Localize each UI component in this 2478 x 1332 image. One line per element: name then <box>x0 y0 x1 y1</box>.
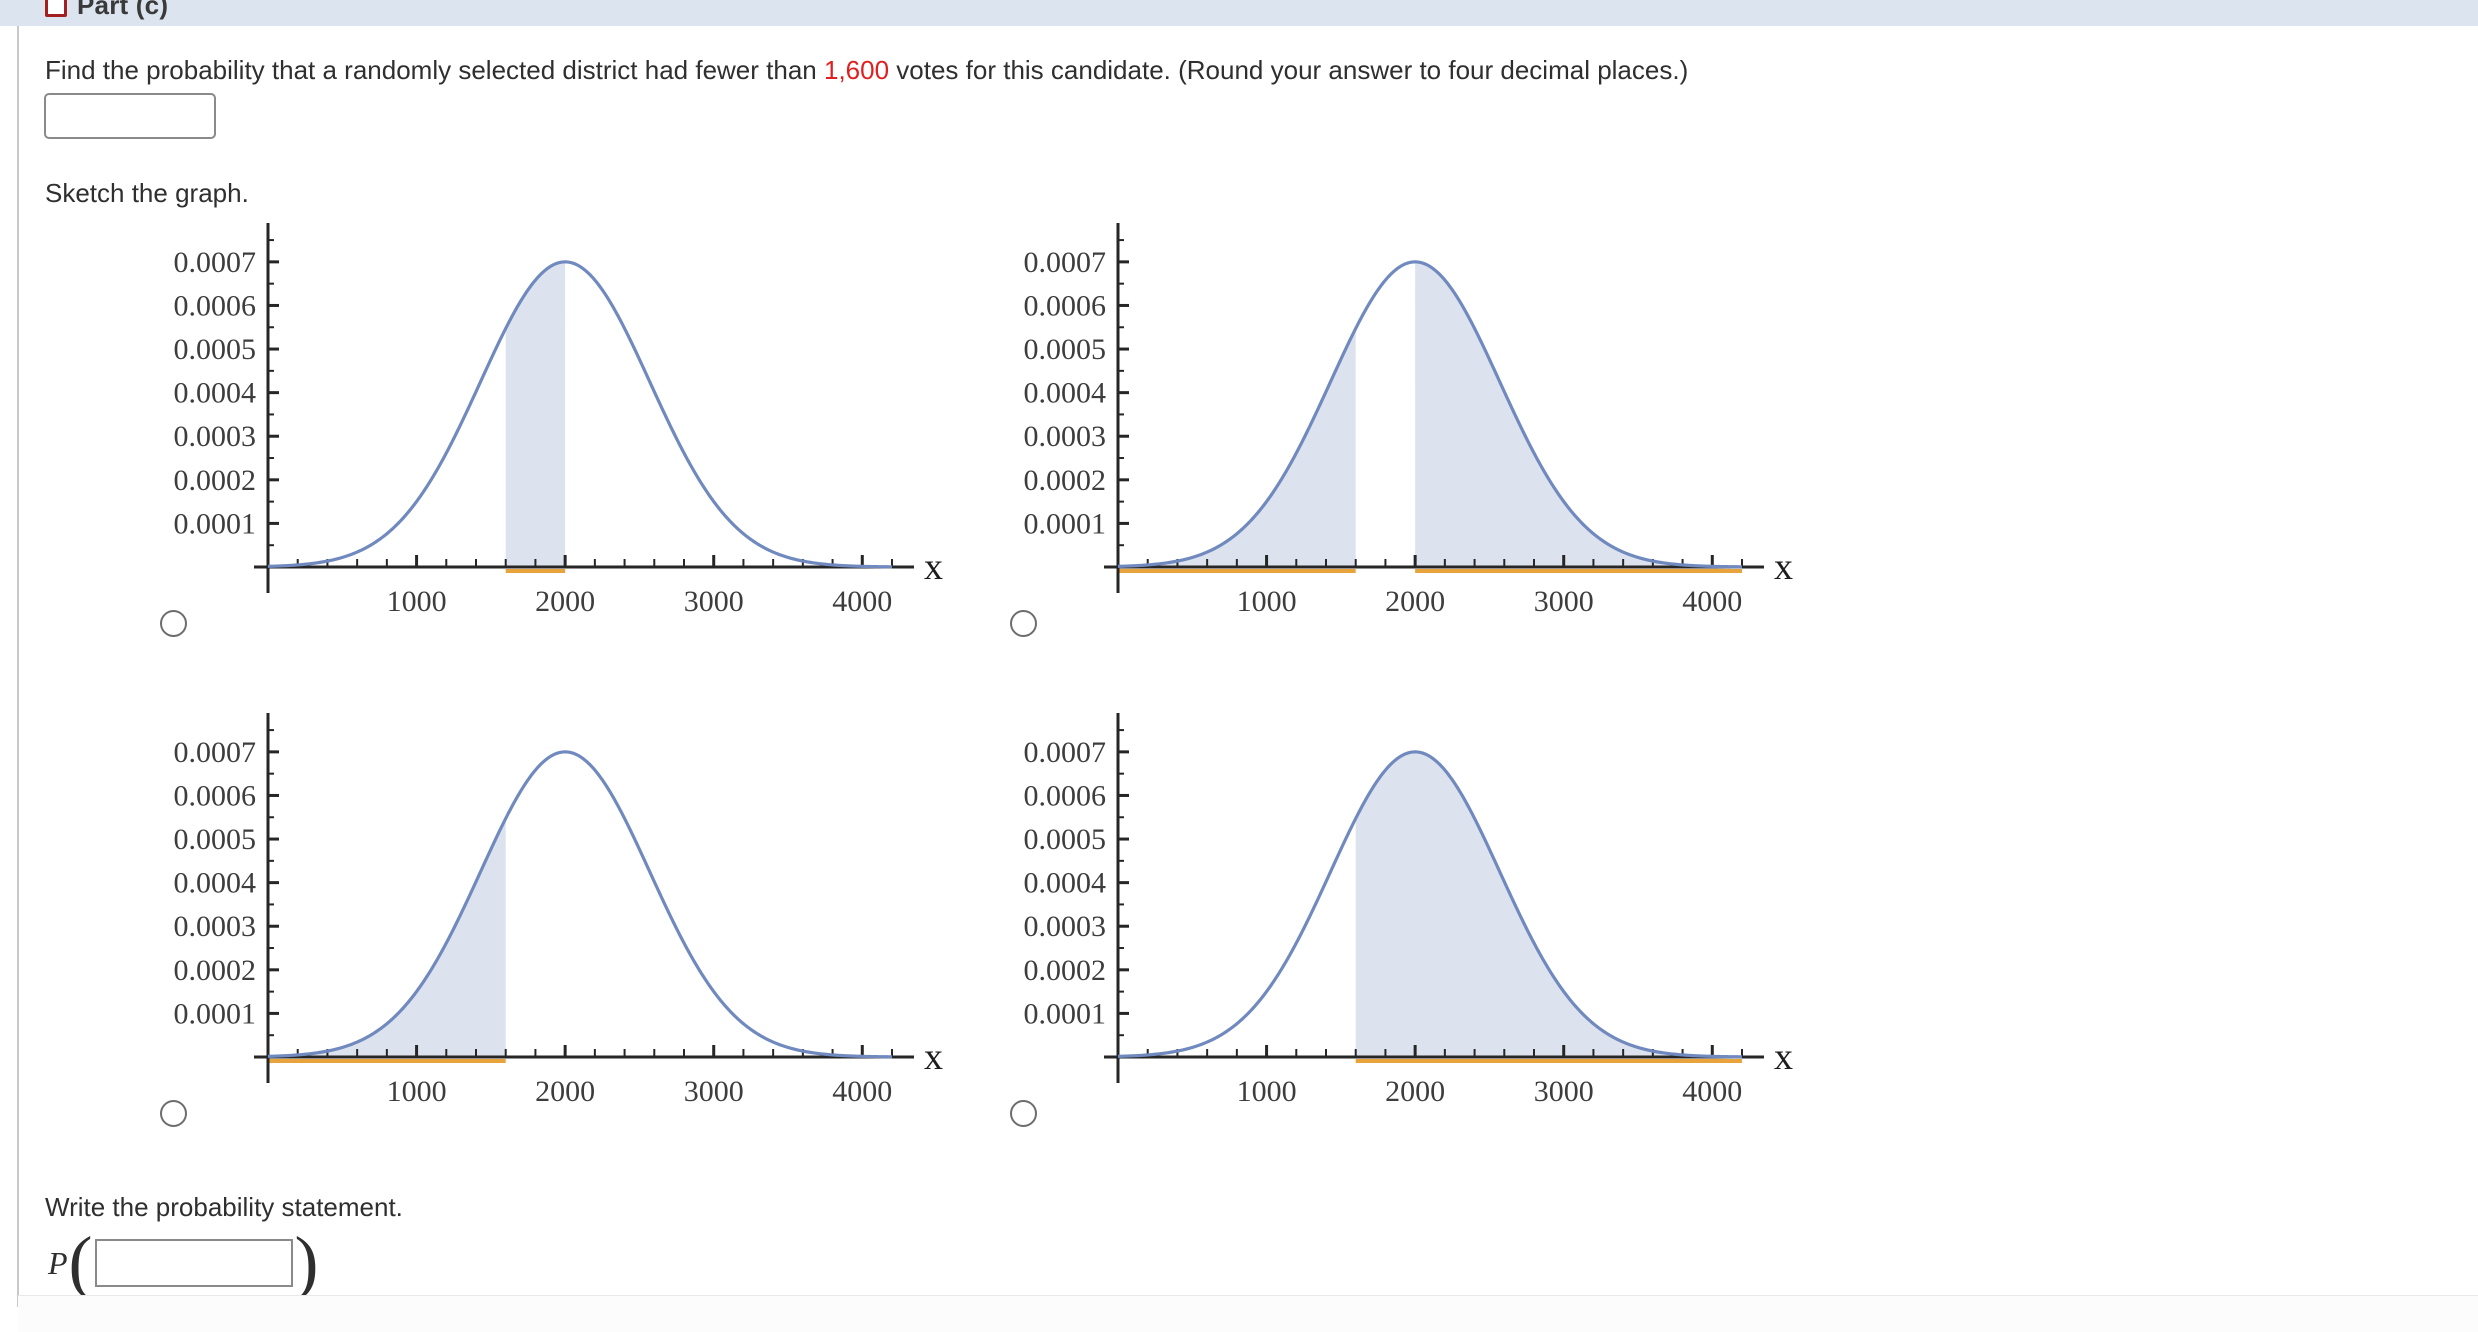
svg-text:x: x <box>1774 1036 1793 1078</box>
svg-text:1000: 1000 <box>387 585 447 615</box>
svg-text:0.0006: 0.0006 <box>1024 289 1107 322</box>
radio-option-3[interactable] <box>1010 1100 1037 1127</box>
probability-answer-input[interactable] <box>44 93 216 139</box>
svg-text:0.0002: 0.0002 <box>1024 464 1107 497</box>
svg-text:1000: 1000 <box>1237 1075 1297 1105</box>
svg-text:0.0004: 0.0004 <box>1024 377 1107 410</box>
radio-option-2[interactable] <box>160 1100 187 1127</box>
svg-text:1000: 1000 <box>387 1075 447 1105</box>
svg-text:0.0003: 0.0003 <box>1024 420 1107 453</box>
svg-text:3000: 3000 <box>1534 1075 1594 1105</box>
svg-text:4000: 4000 <box>832 585 892 615</box>
svg-text:2000: 2000 <box>1385 585 1445 615</box>
probability-statement-row: P ( ) <box>48 1228 319 1298</box>
svg-text:0.0004: 0.0004 <box>1024 867 1107 900</box>
p-symbol: P <box>48 1245 68 1282</box>
svg-text:x: x <box>924 546 943 588</box>
graph-options-grid: 0.00010.00020.00030.00040.00050.00060.00… <box>150 215 1950 1175</box>
svg-text:0.0005: 0.0005 <box>1024 823 1107 856</box>
content-left-rule <box>17 26 19 1307</box>
svg-text:0.0006: 0.0006 <box>174 779 257 812</box>
svg-text:0.0002: 0.0002 <box>1024 954 1107 987</box>
svg-text:0.0001: 0.0001 <box>174 507 257 540</box>
question-text-before: Find the probability that a randomly sel… <box>45 55 824 85</box>
svg-text:0.0002: 0.0002 <box>174 954 257 987</box>
question-prompt: Find the probability that a randomly sel… <box>45 55 1688 86</box>
svg-text:x: x <box>1774 546 1793 588</box>
probability-statement-label: Write the probability statement. <box>45 1192 403 1223</box>
close-paren: ) <box>295 1237 319 1289</box>
svg-text:x: x <box>924 1036 943 1078</box>
svg-text:0.0005: 0.0005 <box>174 823 257 856</box>
unchecked-checkbox-icon[interactable] <box>45 0 67 17</box>
svg-text:3000: 3000 <box>684 585 744 615</box>
svg-text:0.0002: 0.0002 <box>174 464 257 497</box>
graph-option-1[interactable]: 0.00010.00020.00030.00040.00050.00060.00… <box>1000 215 1800 655</box>
svg-text:4000: 4000 <box>832 1075 892 1105</box>
graph-option-2[interactable]: 0.00010.00020.00030.00040.00050.00060.00… <box>150 705 950 1145</box>
exercise-page: Part (c) Find the probability that a ran… <box>0 0 2478 1332</box>
part-title: Part (c) <box>77 0 168 21</box>
svg-text:3000: 3000 <box>1534 585 1594 615</box>
svg-text:2000: 2000 <box>1385 1075 1445 1105</box>
svg-text:0.0006: 0.0006 <box>1024 779 1107 812</box>
page-bottom-band <box>18 1295 2478 1332</box>
sketch-the-graph-label: Sketch the graph. <box>45 178 249 209</box>
normal-curve-chart-3: 0.00010.00020.00030.00040.00050.00060.00… <box>1000 705 1800 1105</box>
svg-text:0.0007: 0.0007 <box>1024 246 1107 279</box>
svg-text:3000: 3000 <box>684 1075 744 1105</box>
normal-curve-chart-2: 0.00010.00020.00030.00040.00050.00060.00… <box>150 705 950 1105</box>
radio-option-0[interactable] <box>160 610 187 637</box>
svg-text:0.0006: 0.0006 <box>174 289 257 322</box>
svg-text:4000: 4000 <box>1682 585 1742 615</box>
svg-text:0.0003: 0.0003 <box>174 910 257 943</box>
normal-curve-chart-1: 0.00010.00020.00030.00040.00050.00060.00… <box>1000 215 1800 615</box>
svg-text:0.0007: 0.0007 <box>174 246 257 279</box>
graph-option-0[interactable]: 0.00010.00020.00030.00040.00050.00060.00… <box>150 215 950 655</box>
svg-text:0.0001: 0.0001 <box>174 997 257 1030</box>
svg-text:0.0005: 0.0005 <box>1024 333 1107 366</box>
svg-text:2000: 2000 <box>535 1075 595 1105</box>
svg-text:4000: 4000 <box>1682 1075 1742 1105</box>
question-text-after: votes for this candidate. (Round your an… <box>889 55 1688 85</box>
svg-text:0.0003: 0.0003 <box>1024 910 1107 943</box>
radio-option-1[interactable] <box>1010 610 1037 637</box>
svg-text:0.0004: 0.0004 <box>174 867 257 900</box>
svg-text:0.0001: 0.0001 <box>1024 997 1107 1030</box>
probability-statement-input[interactable] <box>95 1239 293 1287</box>
question-highlight-value: 1,600 <box>824 55 889 85</box>
part-header: Part (c) <box>0 0 2478 26</box>
svg-text:0.0005: 0.0005 <box>174 333 257 366</box>
normal-curve-chart-0: 0.00010.00020.00030.00040.00050.00060.00… <box>150 215 950 615</box>
svg-text:0.0004: 0.0004 <box>174 377 257 410</box>
svg-text:2000: 2000 <box>535 585 595 615</box>
svg-text:0.0003: 0.0003 <box>174 420 257 453</box>
graph-option-3[interactable]: 0.00010.00020.00030.00040.00050.00060.00… <box>1000 705 1800 1145</box>
svg-text:0.0001: 0.0001 <box>1024 507 1107 540</box>
svg-text:1000: 1000 <box>1237 585 1297 615</box>
svg-text:0.0007: 0.0007 <box>1024 736 1107 769</box>
svg-text:0.0007: 0.0007 <box>174 736 257 769</box>
open-paren: ( <box>69 1237 93 1289</box>
